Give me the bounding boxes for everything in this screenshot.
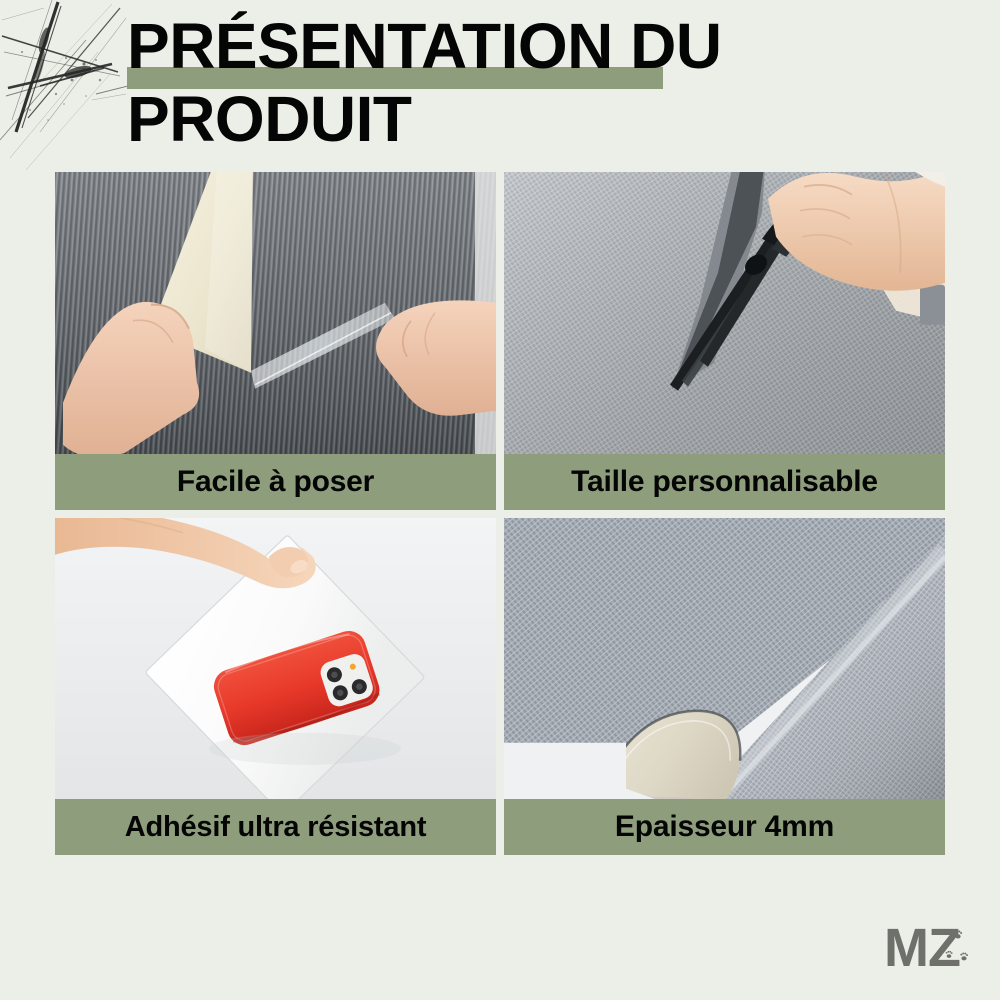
mz-logo-icon: MZ — [882, 916, 978, 978]
page-title: PRÉSENTATION DU PRODUIT — [127, 14, 947, 151]
caption-bar-1: Facile à poser — [55, 454, 496, 510]
feature-grid: Facile à poser — [55, 172, 945, 855]
title-line-1: PRÉSENTATION DU — [127, 14, 947, 78]
title-line-2: PRODUIT — [127, 87, 947, 151]
caption-bar-2: Taille personnalisable — [504, 454, 945, 510]
title-line-2-text: PRODUIT — [127, 87, 947, 151]
grunge-scratch-decoration — [0, 0, 130, 190]
caption-text-3: Adhésif ultra résistant — [125, 811, 427, 844]
grunge-scratch-icon — [0, 0, 130, 190]
caption-bar-3: Adhésif ultra résistant — [55, 799, 496, 855]
feature-cell-taille-personnalisable[interactable]: Taille personnalisable — [504, 172, 945, 510]
caption-text-2: Taille personnalisable — [571, 465, 878, 499]
hands-peeling-backing-paper-photo — [55, 172, 496, 454]
logo-text: MZ — [884, 918, 960, 978]
hand-holding-adhesive-sheet-with-phone-photo — [55, 518, 496, 800]
brand-logo[interactable]: MZ — [882, 916, 978, 978]
title-line-1-text: PRÉSENTATION DU — [127, 14, 947, 78]
feature-cell-adhesif-ultra-resistant[interactable]: Adhésif ultra résistant — [55, 518, 496, 856]
folded-carpet-showing-thickness-photo — [504, 518, 945, 800]
caption-text-1: Facile à poser — [177, 465, 374, 499]
caption-bar-4: Epaisseur 4mm — [504, 799, 945, 855]
hand-cutting-carpet-with-scissors-photo — [504, 172, 945, 454]
caption-text-4: Epaisseur 4mm — [615, 810, 834, 844]
feature-cell-epaisseur-4mm[interactable]: Epaisseur 4mm — [504, 518, 945, 856]
feature-cell-facile-a-poser[interactable]: Facile à poser — [55, 172, 496, 510]
